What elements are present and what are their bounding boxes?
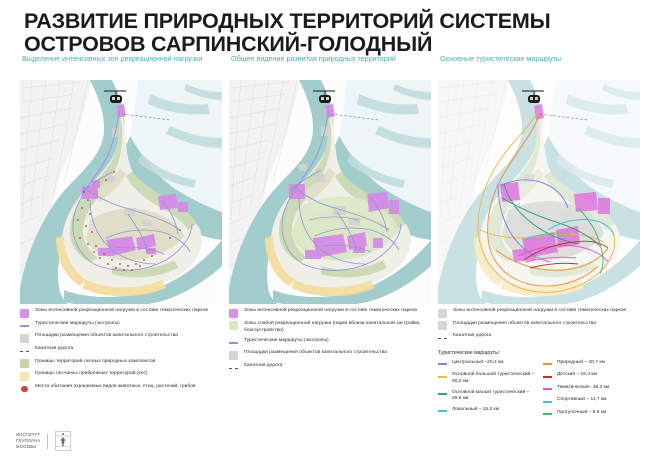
swatch-cable-car-icon bbox=[20, 347, 29, 356]
route-label: Спортивный – 11,7 км bbox=[557, 397, 606, 404]
legend-item: Зоны интенсивной рекреационной нагрузки … bbox=[438, 308, 646, 318]
swatch-intensive-zone-icon bbox=[229, 309, 238, 318]
legend-label: Канатная дорога bbox=[35, 346, 73, 353]
legend-item: Границы песчаных прибрежных территорий (… bbox=[20, 371, 225, 381]
map-panel-2[interactable] bbox=[229, 80, 431, 304]
legend-label: Зоны интенсивной рекреационной нагрузки … bbox=[453, 308, 626, 315]
route-item: Основной большой туристический –50,2 км bbox=[438, 372, 535, 386]
route-item: Тематический– 36,2 км bbox=[543, 385, 640, 394]
panel-2-subtitle: Общее видение развития природных террито… bbox=[231, 54, 431, 64]
route-label: Основной большой туристический –50,2 км bbox=[452, 372, 535, 386]
route-item: Прогулочный – 9,5 км bbox=[543, 410, 640, 419]
route-label: Центральный –20,4 км bbox=[452, 360, 504, 367]
swatch-eco-route-icon bbox=[229, 338, 238, 347]
route-swatch-sport-icon bbox=[543, 397, 552, 406]
swatch-cable-car-icon bbox=[229, 364, 238, 373]
legend-label: Канатная дорога bbox=[244, 363, 282, 370]
route-swatch-walking-icon bbox=[543, 410, 552, 419]
swatch-capital-pad-icon bbox=[229, 351, 238, 360]
footer: ИНСТИТУТ ГЕНПЛАНА МОСКВЫ bbox=[16, 431, 71, 451]
legend-item: Места обитания охраняемых видов животных… bbox=[20, 384, 225, 394]
panel-3-subtitle: Основные туристические маршруты bbox=[440, 54, 640, 64]
map-panel-3[interactable] bbox=[438, 80, 640, 304]
legend-item: Зоны интенсивной рекреационной нагрузки … bbox=[20, 308, 225, 318]
route-item: Основной малый туристический –29,6 км bbox=[438, 390, 535, 404]
legend-label: Зоны интенсивной рекреационной нагрузки … bbox=[35, 308, 208, 315]
routes-column-right: Природный – 40,7 км Детский – 16,4 км Те… bbox=[543, 360, 640, 423]
legend-label: Площадки размещения объектов капитальног… bbox=[244, 350, 387, 357]
route-label: Основной малый туристический –29,6 км bbox=[452, 390, 535, 404]
moscow-coat-of-arms-icon bbox=[55, 431, 71, 451]
swatch-soft-zone-icon bbox=[229, 321, 238, 330]
route-swatch-main-large-icon bbox=[438, 372, 447, 381]
legend-label: Границы территорий лесных природных комп… bbox=[35, 359, 155, 366]
legend-item: Канатная дорога bbox=[229, 363, 434, 373]
legend-item: Канатная дорога bbox=[438, 333, 646, 343]
legend-label: Туристические маршруты (экотропы) bbox=[244, 338, 329, 345]
legend-label: Туристические маршруты (экотропы) bbox=[35, 321, 120, 328]
legend-item: Зоны интенсивной рекреационной нагрузки … bbox=[229, 308, 434, 318]
route-label: Детский – 16,4 км bbox=[557, 372, 597, 379]
route-label: Тематический– 36,2 км bbox=[557, 385, 609, 392]
routes-column-left: Центральный –20,4 км Основной большой ту… bbox=[438, 360, 535, 423]
map-panel-1[interactable] bbox=[20, 80, 222, 304]
legend-item: Площадки размещения объектов капитальног… bbox=[229, 350, 434, 360]
routes-grid: Центральный –20,4 км Основной большой ту… bbox=[438, 360, 646, 423]
legend-item: Туристические маршруты (экотропы) bbox=[20, 321, 225, 331]
panel-1-subtitle: Выделение интенсивных зон рекреационной … bbox=[22, 54, 212, 64]
swatch-intensive-zone-icon bbox=[20, 309, 29, 318]
map-panels bbox=[0, 80, 650, 304]
swatch-habitat-icon bbox=[20, 385, 29, 394]
legend-label: Зоны слабой рекреационной нагрузки (парк… bbox=[244, 321, 434, 335]
legend-item: Площадки размещения объектов капитальног… bbox=[438, 321, 646, 331]
swatch-eco-route-icon bbox=[20, 321, 29, 330]
legend-item: Туристические маршруты (экотропы) bbox=[229, 338, 434, 348]
route-label: Природный – 40,7 км bbox=[557, 360, 605, 367]
route-label: Прогулочный – 9,5 км bbox=[557, 410, 606, 417]
routes-title: Туристические маршруты: bbox=[438, 350, 646, 356]
legends: Зоны интенсивной рекреационной нагрузки … bbox=[0, 308, 650, 423]
legend-label: Площадки размещения объектов капитальног… bbox=[453, 321, 596, 328]
route-swatch-local-icon bbox=[438, 407, 447, 416]
route-swatch-nature-icon bbox=[543, 360, 552, 369]
route-item: Локальный – 15,2 км bbox=[438, 407, 535, 416]
route-item: Центральный –20,4 км bbox=[438, 360, 535, 369]
poster-root: РАЗВИТИЕ ПРИРОДНЫХ ТЕРРИТОРИЙ СИСТЕМЫ ОС… bbox=[0, 0, 650, 459]
legend-label: Зоны интенсивной рекреационной нагрузки … bbox=[244, 308, 417, 315]
route-swatch-thematic-icon bbox=[543, 385, 552, 394]
swatch-capital-pad-icon bbox=[20, 334, 29, 343]
legend-label: Границы песчаных прибрежных территорий (… bbox=[35, 371, 148, 378]
legend-panel-3: Зоны интенсивной рекреационной нагрузки … bbox=[438, 308, 646, 422]
legend-item: Площадки размещения объектов капитальног… bbox=[20, 333, 225, 343]
footer-divider bbox=[47, 434, 48, 449]
legend-item: Границы территорий лесных природных комп… bbox=[20, 359, 225, 369]
route-item: Спортивный – 11,7 км bbox=[543, 397, 640, 406]
route-item: Природный – 40,7 км bbox=[543, 360, 640, 369]
legend-label: Площадки размещения объектов капитальног… bbox=[35, 333, 178, 340]
legend-panel-1: Зоны интенсивной рекреационной нагрузки … bbox=[20, 308, 225, 397]
swatch-sand-icon bbox=[20, 372, 29, 381]
route-swatch-main-small-icon bbox=[438, 390, 447, 399]
legend-label: Канатная дорога bbox=[453, 333, 491, 340]
legend-item: Канатная дорога bbox=[20, 346, 225, 356]
swatch-forest-icon bbox=[20, 359, 29, 368]
route-swatch-children-icon bbox=[543, 372, 552, 381]
swatch-intensive-zone-icon bbox=[438, 309, 447, 318]
legend-label: Места обитания охраняемых видов животных… bbox=[35, 384, 196, 391]
route-swatch-central-icon bbox=[438, 360, 447, 369]
swatch-capital-pad-icon bbox=[438, 321, 447, 330]
panel-subtitles: Выделение интенсивных зон рекреационной … bbox=[0, 54, 650, 80]
legend-panel-2: Зоны интенсивной рекреационной нагрузки … bbox=[229, 308, 434, 376]
page-title: РАЗВИТИЕ ПРИРОДНЫХ ТЕРРИТОРИЙ СИСТЕМЫ ОС… bbox=[24, 10, 628, 56]
route-item: Детский – 16,4 км bbox=[543, 372, 640, 381]
route-label: Локальный – 15,2 км bbox=[452, 407, 499, 414]
legend-item: Зоны слабой рекреационной нагрузки (парк… bbox=[229, 321, 434, 335]
organization-name: ИНСТИТУТ ГЕНПЛАНА МОСКВЫ bbox=[16, 432, 40, 450]
swatch-cable-car-icon bbox=[438, 334, 447, 343]
title-block: РАЗВИТИЕ ПРИРОДНЫХ ТЕРРИТОРИЙ СИСТЕМЫ ОС… bbox=[24, 10, 628, 56]
